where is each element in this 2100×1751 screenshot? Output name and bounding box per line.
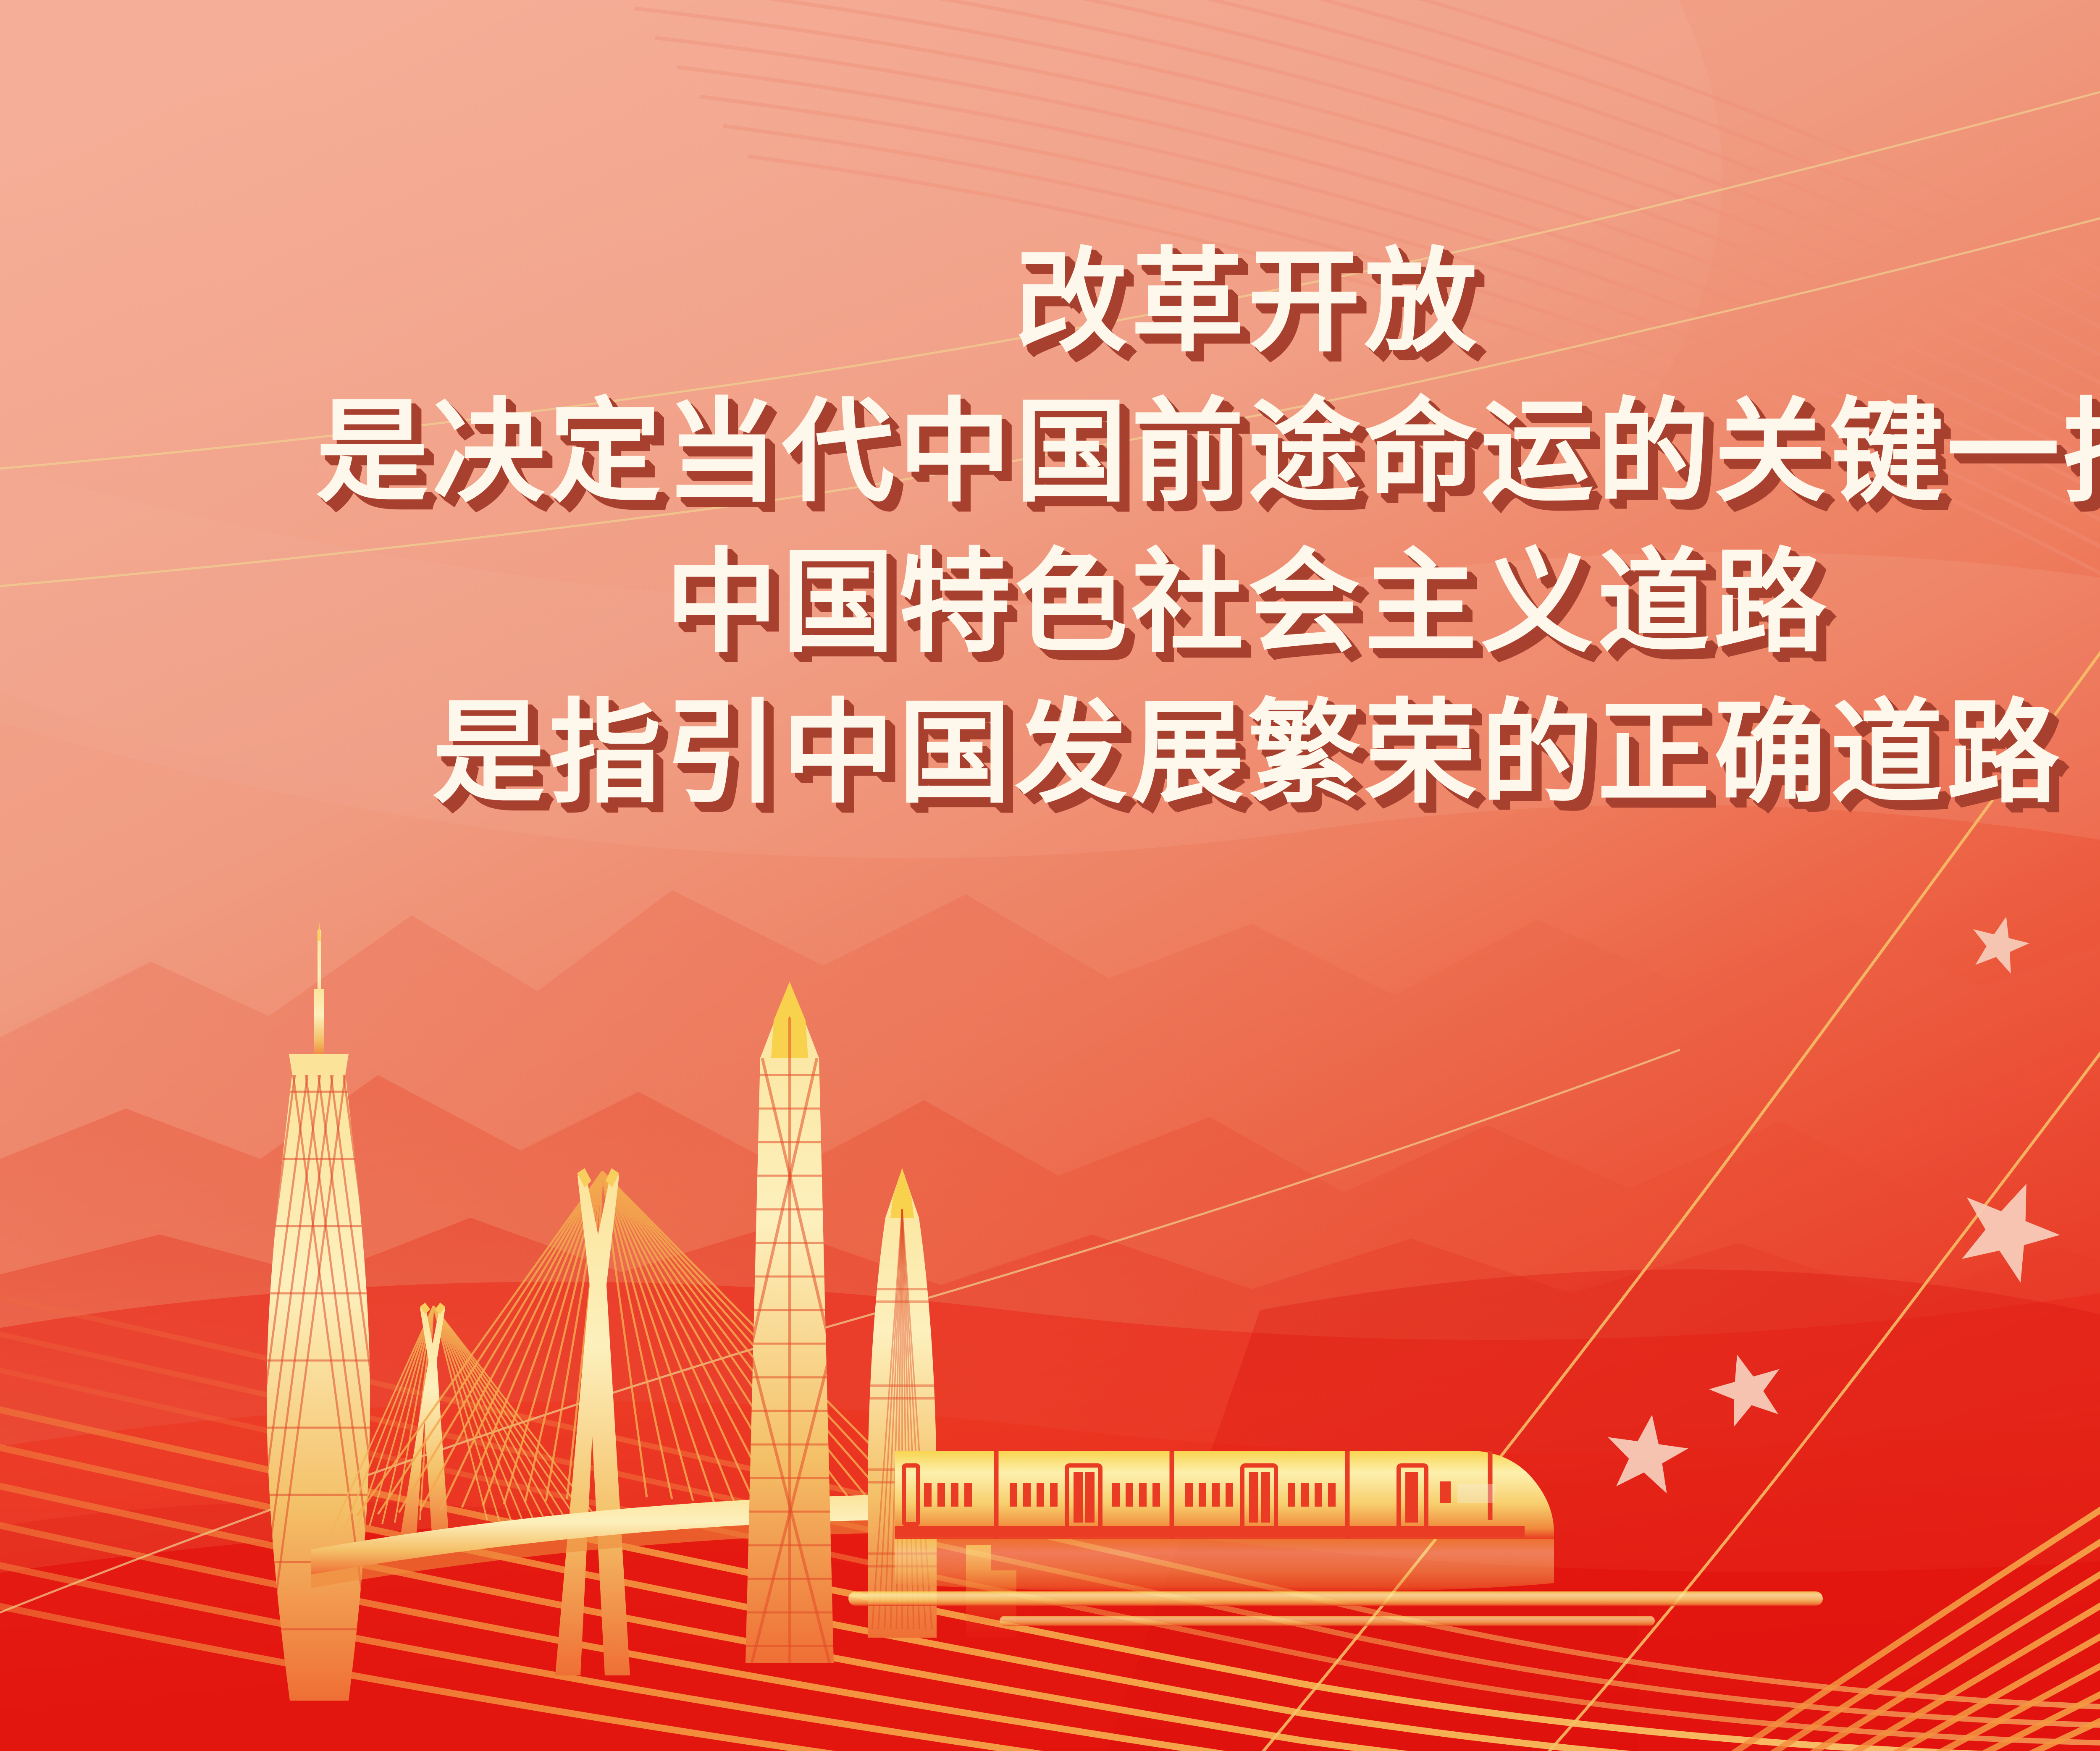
canton-tower-illustration: [210, 922, 428, 1713]
high-speed-train-illustration: [848, 1451, 1823, 1626]
landmark-skyline: [0, 0, 2100, 1751]
ping-an-finance-center-illustration: [714, 982, 865, 1663]
poster-canvas: 改革开放 是决定当代中国前途命运的关键一招 中国特色社会主义道路 是指引中国发展…: [0, 0, 2100, 1751]
